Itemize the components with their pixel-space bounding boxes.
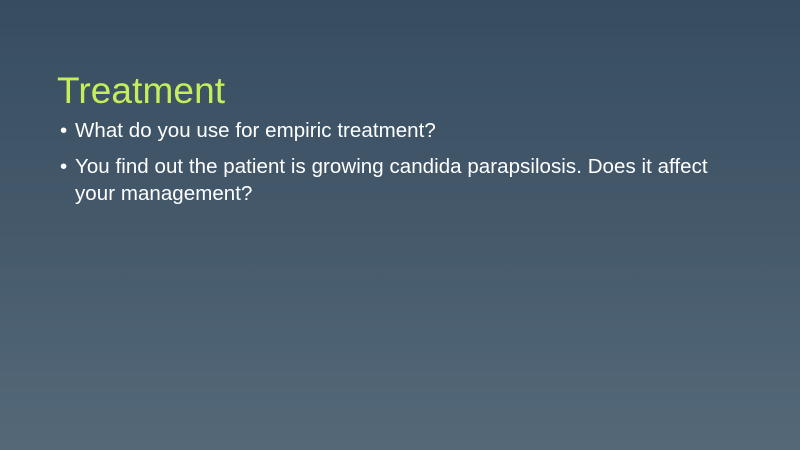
- list-item: • What do you use for empiric treatment?: [57, 117, 717, 144]
- list-item: • You find out the patient is growing ca…: [57, 153, 717, 207]
- list-item-text: What do you use for empiric treatment?: [75, 117, 717, 144]
- bullet-point-icon: •: [60, 153, 67, 180]
- bullet-point-icon: •: [60, 117, 67, 144]
- background-sheen: [0, 248, 800, 450]
- slide-title: Treatment: [57, 69, 225, 113]
- slide-body: • What do you use for empiric treatment?…: [57, 117, 717, 207]
- list-item-text: You find out the patient is growing cand…: [75, 153, 717, 207]
- presentation-slide: Treatment • What do you use for empiric …: [0, 0, 800, 450]
